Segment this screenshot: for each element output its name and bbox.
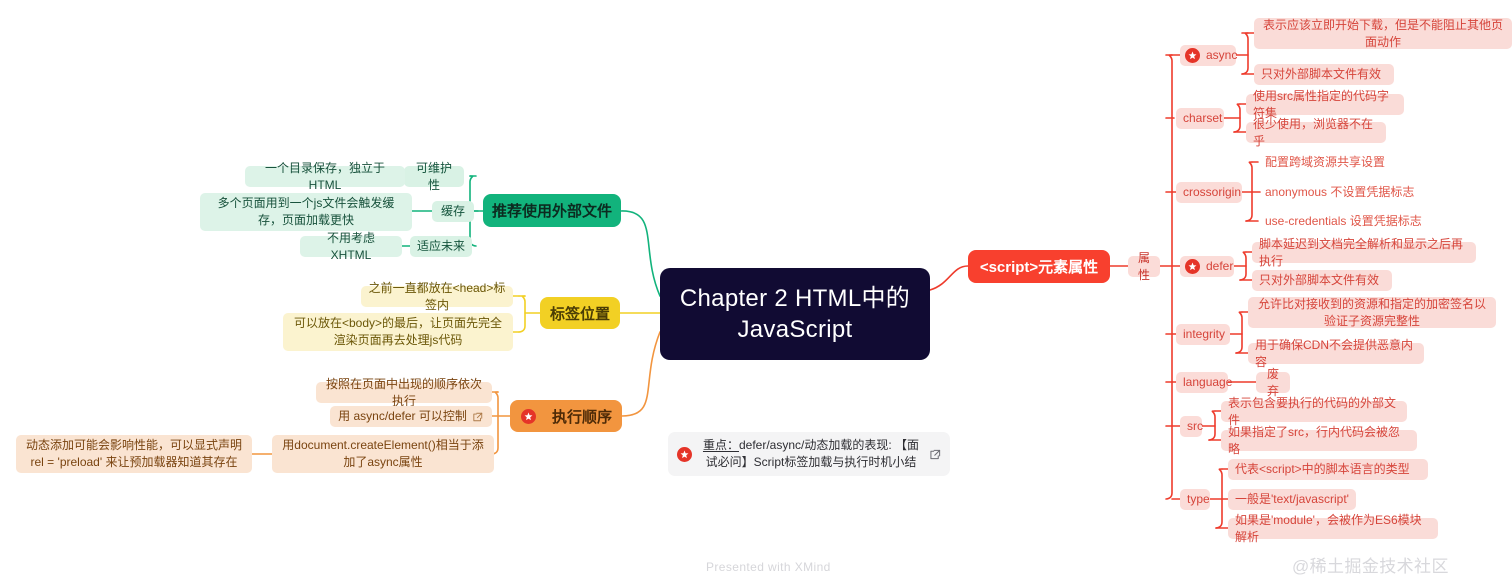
leaf-src-desc-1[interactable]: 表示包含要执行的代码的外部文件 (1221, 401, 1407, 422)
brand-watermark: @稀土掘金技术社区 (1292, 552, 1449, 577)
branch-tag-position-label: 标签位置 (540, 303, 620, 324)
leaf-crossorigin-desc-3[interactable]: use-credentials 设置凭据标志 (1258, 211, 1438, 232)
mindmap-canvas: Chapter 2 HTML中的 JavaScript 推荐使用外部文件 可维护… (0, 0, 1512, 587)
branch-script-attributes[interactable]: <script>元素属性 (968, 250, 1110, 283)
leaf-order-sequential[interactable]: 按照在页面中出现的顺序依次执行 (316, 382, 492, 403)
xmind-watermark: Presented with XMind (706, 560, 831, 574)
star-icon (1185, 259, 1200, 274)
leaf-charset-desc-2[interactable]: 很少使用，浏览器不在乎 (1246, 122, 1386, 143)
leaf-createelement-async[interactable]: 用document.createElement()相当于添加了async属性 (272, 435, 494, 473)
leaf-directory-save-label: 一个目录保存，独立于HTML (252, 160, 398, 194)
attribute-defer-label: defer (1206, 258, 1233, 275)
note-text: 重点：defer/async/动态加载的表现: 【面试必问】Script标签加载… (698, 437, 924, 471)
leaf-async-defer-control-label: 用 async/defer 可以控制 (338, 408, 467, 425)
leaf-async-desc-1-label: 表示应该立即开始下载，但是不能阻止其他页面动作 (1261, 17, 1505, 51)
leaf-defer-desc-2[interactable]: 只对外部脚本文件有效 (1252, 270, 1392, 291)
leaf-dynamic-preload[interactable]: 动态添加可能会影响性能，可以显式声明 rel = 'preload' 来让预加载… (16, 435, 252, 473)
attribute-async[interactable]: async (1180, 45, 1236, 66)
leaf-type-desc-3[interactable]: 如果是'module'，会被作为ES6模块解析 (1228, 518, 1438, 539)
attribute-charset-label: charset (1183, 110, 1217, 127)
attribute-integrity-label: integrity (1183, 326, 1223, 343)
branch-external-files-label: 推荐使用外部文件 (483, 200, 621, 221)
leaf-integrity-desc-1-label: 允许比对接收到的资源和指定的加密签名以验证子资源完整性 (1255, 296, 1489, 330)
leaf-dynamic-preload-label: 动态添加可能会影响性能，可以显式声明 rel = 'preload' 来让预加载… (23, 437, 245, 471)
attribute-src-label: src (1187, 418, 1195, 435)
subtopic-future-proof[interactable]: 适应未来 (410, 236, 472, 257)
branch-external-files[interactable]: 推荐使用外部文件 (483, 194, 621, 227)
central-topic[interactable]: Chapter 2 HTML中的 JavaScript (660, 268, 930, 360)
leaf-type-desc-1-label: 代表<script>中的脚本语言的类型 (1235, 461, 1421, 478)
branch-execution-order-label: 执行顺序 (542, 406, 622, 427)
branch-tag-position[interactable]: 标签位置 (540, 297, 620, 329)
attribute-src[interactable]: src (1180, 416, 1202, 437)
leaf-crossorigin-desc-2-label: anonymous 不设置凭据标志 (1265, 184, 1421, 201)
leaf-charset-desc-1[interactable]: 使用src属性指定的代码字符集 (1246, 94, 1404, 115)
subtopic-maintainability[interactable]: 可维护性 (404, 166, 464, 187)
star-icon (677, 447, 692, 462)
leaf-crossorigin-desc-1[interactable]: 配置跨域资源共享设置 (1258, 152, 1408, 173)
subtopic-maintainability-label: 可维护性 (411, 160, 457, 194)
leaf-body-end[interactable]: 可以放在<body>的最后，让页面先完全渲染页面再去处理js代码 (283, 313, 513, 351)
leaf-type-desc-3-label: 如果是'module'，会被作为ES6模块解析 (1235, 512, 1431, 546)
leaf-defer-desc-2-label: 只对外部脚本文件有效 (1259, 272, 1385, 289)
leaf-src-desc-2[interactable]: 如果指定了src，行内代码会被忽略 (1221, 430, 1417, 451)
leaf-async-desc-2[interactable]: 只对外部脚本文件有效 (1254, 64, 1394, 85)
leaf-async-defer-control[interactable]: 用 async/defer 可以控制 (330, 406, 492, 427)
attribute-integrity[interactable]: integrity (1176, 324, 1230, 345)
attribute-type[interactable]: type (1180, 489, 1210, 510)
leaf-src-desc-2-label: 如果指定了src，行内代码会被忽略 (1228, 424, 1410, 458)
leaf-crossorigin-desc-3-label: use-credentials 设置凭据标志 (1265, 213, 1431, 230)
leaf-language-desc-1[interactable]: 废弃 (1256, 372, 1290, 393)
leaf-charset-desc-2-label: 很少使用，浏览器不在乎 (1253, 116, 1379, 150)
subtopic-attributes-group[interactable]: 属性 (1128, 256, 1160, 277)
leaf-type-desc-2[interactable]: 一般是'text/javascript' (1228, 489, 1356, 510)
leaf-defer-desc-1[interactable]: 脚本延迟到文档完全解析和显示之后再执行 (1252, 242, 1476, 263)
leaf-order-sequential-label: 按照在页面中出现的顺序依次执行 (323, 376, 485, 410)
leaf-defer-desc-1-label: 脚本延迟到文档完全解析和显示之后再执行 (1259, 236, 1469, 270)
attribute-language[interactable]: language (1176, 372, 1228, 393)
leaf-async-desc-2-label: 只对外部脚本文件有效 (1261, 66, 1387, 83)
attribute-defer[interactable]: defer (1180, 256, 1234, 277)
leaf-no-xhtml-label: 不用考虑XHTML (307, 230, 395, 264)
star-icon (1185, 48, 1200, 63)
leaf-createelement-async-label: 用document.createElement()相当于添加了async属性 (279, 437, 487, 471)
leaf-body-end-label: 可以放在<body>的最后，让页面先完全渲染页面再去处理js代码 (290, 315, 506, 349)
leaf-cache-faster[interactable]: 多个页面用到一个js文件会触发缓存，页面加载更快 (200, 193, 412, 231)
central-topic-label: Chapter 2 HTML中的 JavaScript (660, 283, 930, 345)
subtopic-future-proof-label: 适应未来 (417, 238, 465, 255)
attribute-crossorigin[interactable]: crossorigin (1176, 182, 1242, 203)
attribute-charset[interactable]: charset (1176, 108, 1224, 129)
external-link-icon[interactable] (473, 412, 484, 422)
leaf-integrity-desc-2[interactable]: 用于确保CDN不会提供恶意内容 (1248, 343, 1424, 364)
leaf-crossorigin-desc-2[interactable]: anonymous 不设置凭据标志 (1258, 182, 1428, 203)
leaf-no-xhtml[interactable]: 不用考虑XHTML (300, 236, 402, 257)
leaf-directory-save[interactable]: 一个目录保存，独立于HTML (245, 166, 405, 187)
leaf-head-tag[interactable]: 之前一直都放在<head>标签内 (361, 286, 513, 307)
note-prefix: 重点： (703, 438, 739, 452)
star-icon (521, 409, 536, 424)
attribute-async-label: async (1206, 47, 1237, 64)
subtopic-cache[interactable]: 缓存 (432, 201, 474, 222)
leaf-cache-faster-label: 多个页面用到一个js文件会触发缓存，页面加载更快 (207, 195, 405, 229)
attribute-crossorigin-label: crossorigin (1183, 184, 1235, 201)
leaf-type-desc-2-label: 一般是'text/javascript' (1235, 491, 1349, 508)
leaf-crossorigin-desc-1-label: 配置跨域资源共享设置 (1265, 154, 1401, 171)
subtopic-cache-label: 缓存 (439, 203, 467, 220)
note-card[interactable]: 重点：defer/async/动态加载的表现: 【面试必问】Script标签加载… (668, 432, 950, 476)
subtopic-attributes-group-label: 属性 (1135, 250, 1153, 284)
attribute-type-label: type (1187, 491, 1203, 508)
leaf-async-desc-1[interactable]: 表示应该立即开始下载，但是不能阻止其他页面动作 (1254, 18, 1512, 49)
branch-execution-order[interactable]: 执行顺序 (510, 400, 622, 432)
branch-script-attributes-label: <script>元素属性 (968, 256, 1110, 277)
external-link-icon[interactable] (930, 449, 941, 460)
leaf-integrity-desc-1[interactable]: 允许比对接收到的资源和指定的加密签名以验证子资源完整性 (1248, 297, 1496, 328)
leaf-type-desc-1[interactable]: 代表<script>中的脚本语言的类型 (1228, 459, 1428, 480)
leaf-head-tag-label: 之前一直都放在<head>标签内 (368, 280, 506, 314)
attribute-language-label: language (1183, 374, 1221, 391)
